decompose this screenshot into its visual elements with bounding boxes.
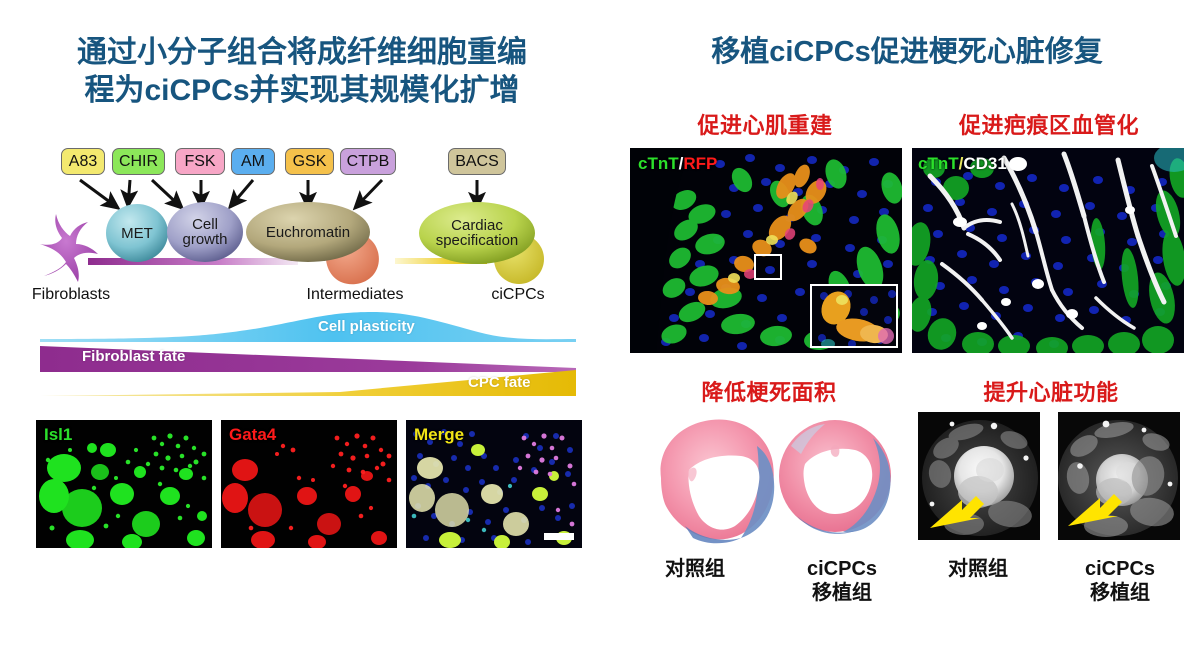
section-title-scar-vascularization: 促进疤痕区血管化: [910, 108, 1188, 140]
drug-box-gsk[interactable]: GSK: [285, 148, 334, 175]
fate-label-fibroblast-fate: Fibroblast fate: [82, 348, 185, 365]
mri-cicpc-image: [1058, 412, 1180, 540]
roi-box: [754, 254, 782, 280]
section-title-myocardium-rebuild: 促进心肌重建: [630, 108, 900, 140]
process-met[interactable]: MET: [106, 204, 168, 262]
figure-root: 通过小分子组合将成纤维细胞重编 程为ciCPCs并实现其规模化扩增 移植ciCP…: [0, 0, 1194, 647]
fate-label-cpc-fate: CPC fate: [468, 374, 531, 391]
process-cardiac-specification[interactable]: Cardiac specification: [419, 202, 535, 264]
section-title-infarct-size: 降低梗死面积: [634, 375, 904, 407]
if-panel-gata4[interactable]: Gata4: [221, 420, 397, 548]
control-heart-section: [661, 419, 775, 543]
masson-heart-images: [645, 408, 907, 548]
histology-label-ctnt-rfp: cTnT/RFP: [638, 154, 717, 174]
if-label-gata4: Gata4: [229, 425, 276, 445]
if-label-isl1: Isl1: [44, 425, 72, 445]
inset-image: [812, 286, 898, 348]
section-title-cardiac-function: 提升心脏功能: [912, 375, 1190, 407]
immunofluorescence-row: Isl1: [36, 420, 582, 548]
left-panel-title: 通过小分子组合将成纤维细胞重编 程为ciCPCs并实现其规模化扩增: [12, 34, 592, 111]
group-label-mri-cicpc: ciCPCs 移植组: [1050, 557, 1190, 606]
mri-control-image: [918, 412, 1040, 540]
drug-box-am[interactable]: AM: [231, 148, 275, 175]
cell-plasticity-wedge: [40, 312, 576, 342]
mri-panel-control[interactable]: [918, 412, 1040, 540]
drug-box-a83[interactable]: A83: [61, 148, 105, 175]
if-panel-merge[interactable]: Merge: [406, 420, 582, 548]
fibroblast-cell-glyph: [40, 214, 98, 282]
drug-box-fsk[interactable]: FSK: [175, 148, 225, 175]
drug-box-ctpb[interactable]: CTPB: [340, 148, 396, 175]
marker-ctnt-2: cTnT: [918, 154, 959, 173]
if-label-merge: Merge: [414, 425, 464, 445]
group-label-mri-control: 对照组: [912, 557, 1044, 581]
process-cell-growth[interactable]: Cell growth: [167, 202, 243, 262]
drug-box-chir[interactable]: CHIR: [112, 148, 165, 175]
masson-sections-row: [645, 408, 907, 548]
stage-label-intermediates: Intermediates: [292, 286, 418, 304]
marker-ctnt: cTnT: [638, 154, 679, 173]
histology-panel-ctnt-cd31[interactable]: cTnT/CD31: [912, 148, 1184, 353]
ctnt-cd31-image: [912, 148, 1184, 353]
magnified-inset: [810, 284, 898, 348]
right-panel-title: 移植ciCPCs促进梗死心脏修复: [620, 34, 1194, 71]
cell-fate-wedges: Cell plasticity Fibroblast fate CPC fate: [0, 308, 600, 398]
drug-box-bacs[interactable]: BACS: [448, 148, 506, 175]
if-panel-isl1[interactable]: Isl1: [36, 420, 212, 548]
scale-bar: [544, 533, 574, 540]
group-label-masson-control: 对照组: [630, 557, 760, 581]
mri-row: [918, 412, 1184, 542]
marker-cd31: CD31: [963, 154, 1006, 173]
fate-label-cell-plasticity: Cell plasticity: [318, 318, 415, 335]
process-euchromatin[interactable]: Euchromatin: [246, 202, 370, 262]
marker-rfp: RFP: [683, 154, 717, 173]
histology-label-ctnt-cd31: cTnT/CD31: [918, 154, 1007, 174]
stage-label-fibroblasts: Fibroblasts: [12, 286, 130, 304]
stage-label-cicpcs: ciCPCs: [470, 286, 566, 304]
histology-panel-ctnt-rfp[interactable]: cTnT/RFP: [630, 148, 902, 353]
mri-panel-cicpc[interactable]: [1058, 412, 1180, 540]
cicpc-heart-section: [779, 420, 891, 534]
group-label-masson-cicpc: ciCPCs 移植组: [772, 557, 912, 606]
